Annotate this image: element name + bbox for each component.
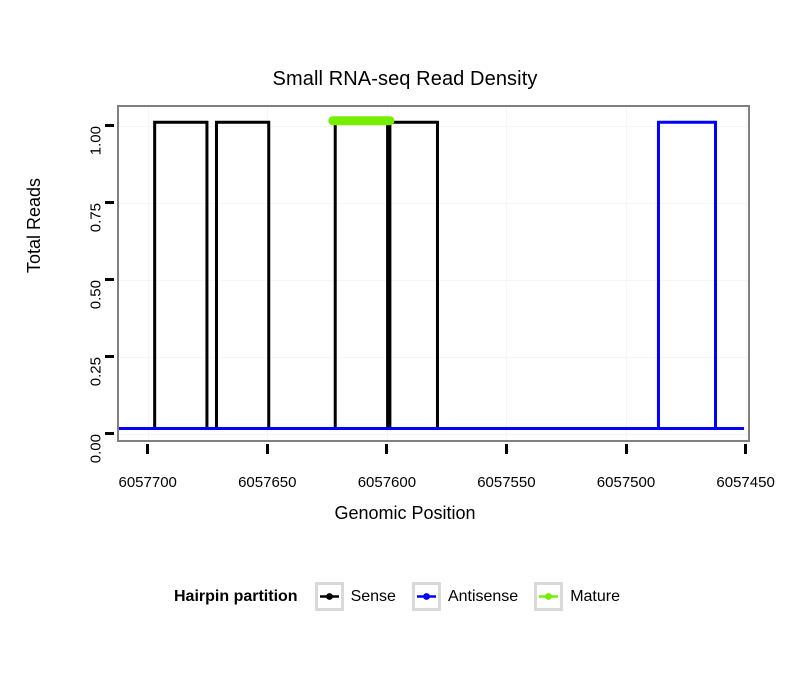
series-sense-peak-0	[155, 122, 207, 428]
series-antisense-peak-0	[658, 122, 715, 428]
legend-item-mature[interactable]: Mature	[534, 582, 620, 611]
y-tick-mark-2	[105, 278, 114, 281]
y-tick-mark-3	[105, 201, 114, 204]
x-tick-mark-2	[385, 444, 388, 454]
series-sense-peak-1	[216, 122, 268, 428]
y-tick-label-3: 0.75	[88, 203, 105, 232]
data-series-layer	[119, 107, 748, 440]
x-tick-label-4: 6057500	[597, 474, 655, 491]
chart-figure: Small RNA-seq Read Density Total Reads 0…	[0, 0, 810, 690]
y-tick-mark-1	[105, 355, 114, 358]
series-sense-peak-3	[390, 122, 438, 428]
legend-key-antisense-icon	[412, 582, 441, 611]
legend-label-antisense: Antisense	[448, 588, 518, 606]
y-tick-mark-4	[105, 124, 114, 127]
y-tick-label-0: 0.00	[88, 434, 105, 463]
legend-title: Hairpin partition	[174, 588, 298, 606]
y-tick-label-4: 1.00	[88, 126, 105, 155]
x-tick-mark-5	[744, 444, 747, 454]
legend-key-mature-icon	[534, 582, 563, 611]
x-tick-mark-1	[266, 444, 269, 454]
x-tick-label-3: 6057550	[477, 474, 535, 491]
x-tick-mark-4	[625, 444, 628, 454]
y-axis-title: Total Reads	[24, 178, 45, 273]
legend-label-sense: Sense	[351, 588, 396, 606]
x-tick-mark-0	[146, 444, 149, 454]
legend-label-mature: Mature	[570, 588, 620, 606]
x-tick-label-1: 6057650	[238, 474, 296, 491]
x-tick-label-2: 6057600	[358, 474, 416, 491]
y-tick-label-1: 0.25	[88, 357, 105, 386]
x-tick-label-5: 6057450	[716, 474, 774, 491]
page-title: Small RNA-seq Read Density	[0, 68, 810, 91]
x-axis-title: Genomic Position	[0, 503, 810, 524]
plot-panel	[117, 105, 750, 442]
legend-key-sense-icon	[315, 582, 344, 611]
x-tick-label-0: 6057700	[118, 474, 176, 491]
plot-inner	[119, 107, 748, 440]
legend: Hairpin partition SenseAntisenseMature	[0, 582, 810, 611]
y-tick-label-2: 0.50	[88, 280, 105, 309]
x-tick-mark-3	[505, 444, 508, 454]
y-tick-mark-0	[105, 432, 114, 435]
series-sense-peak-2	[335, 122, 387, 428]
legend-item-sense[interactable]: Sense	[315, 582, 396, 611]
legend-entries: SenseAntisenseMature	[315, 582, 636, 611]
legend-item-antisense[interactable]: Antisense	[412, 582, 518, 611]
